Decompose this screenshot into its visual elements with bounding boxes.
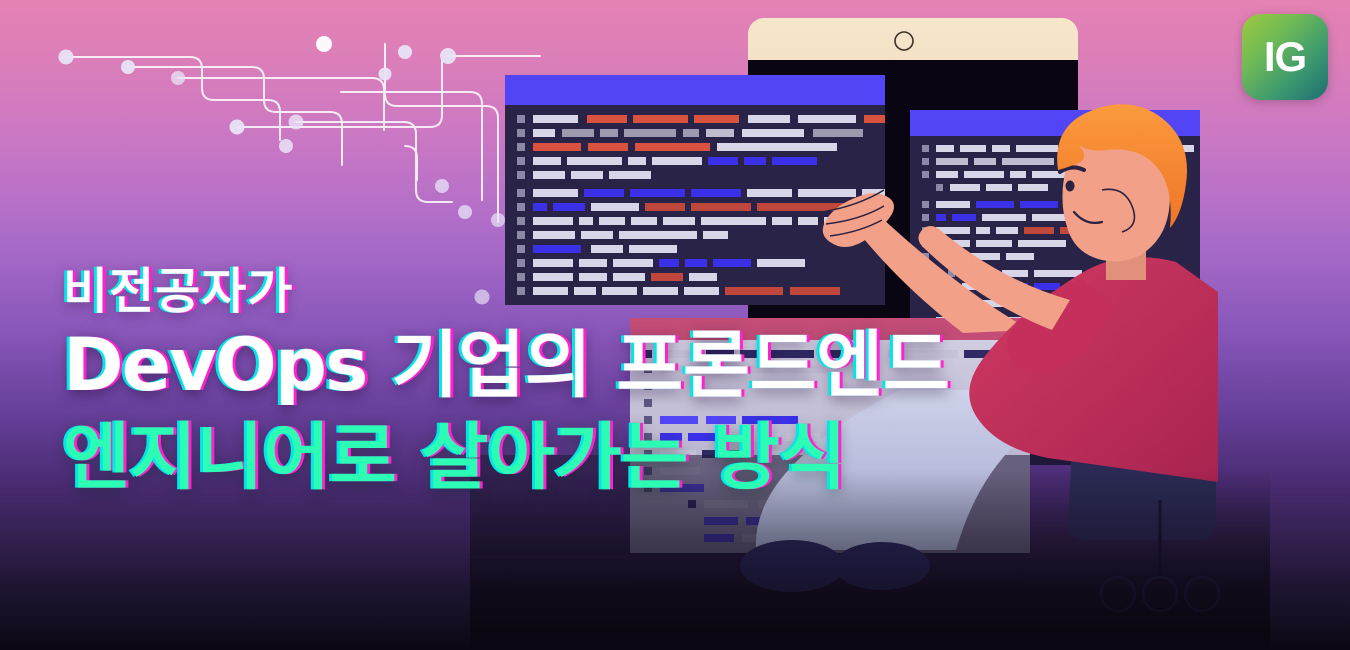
headline-line-2: 엔지니어로 살아가는 방식	[63, 412, 1293, 504]
headline-kicker: 비전공자가	[63, 265, 1293, 320]
headline-line-1: DevOps 기업의 프론드엔드	[63, 320, 1293, 412]
headline-line-1-latin: DevOps	[63, 323, 366, 408]
headline-line-1-rest: 기업의 프론드엔드	[366, 323, 949, 408]
headline-block: 비전공자가 DevOps 기업의 프론드엔드 엔지니어로 살아가는 방식	[63, 265, 1293, 504]
thumbnail-canvas: IG 비전공자가 DevOps 기업의 프론드엔드 엔지니어로 살아가는 방식	[0, 0, 1350, 650]
brand-logo[interactable]: IG	[1242, 14, 1328, 100]
brand-logo-text: IG	[1264, 36, 1306, 78]
